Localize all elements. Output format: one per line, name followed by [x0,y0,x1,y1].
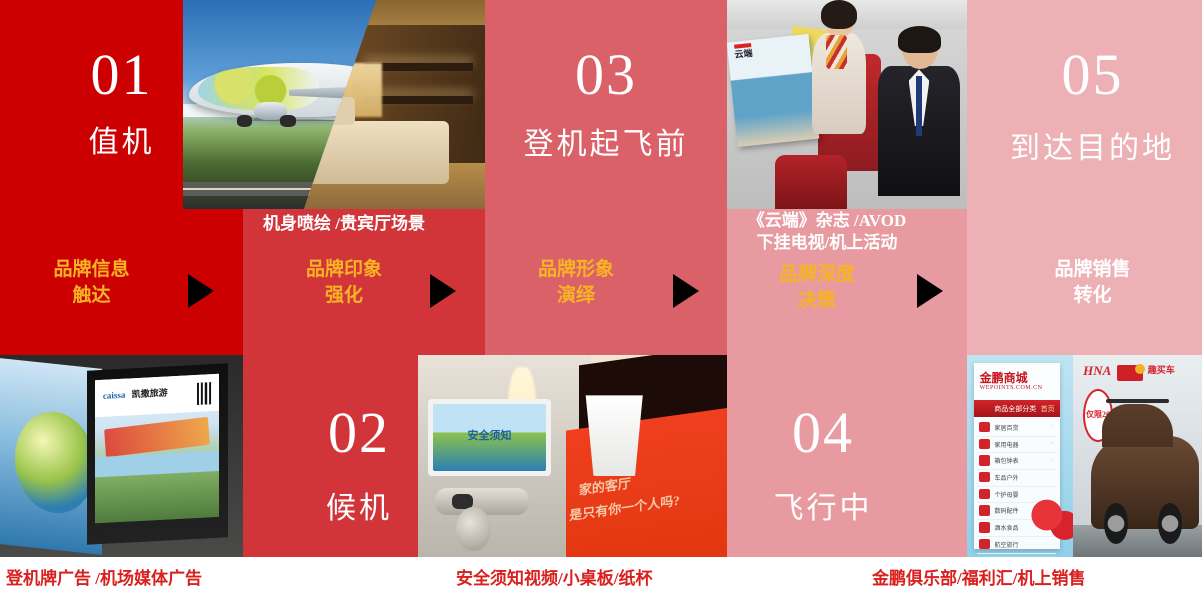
stage-column-5: 05 到达目的地 品牌销售 转化 [967,0,1202,593]
stage-number-04: 04 [703,404,943,462]
flow-arrow-3 [673,274,699,308]
stage-goal-03: 品牌形象 演绎 [455,257,697,308]
stage-column-1: 01 值机 品牌信息 触达 [0,0,243,593]
stage-goal-01: 品牌信息 触达 [0,257,213,308]
bottom-caption-04: 金鹏俱乐部/福利汇/机上销售 [872,564,1085,589]
stage-column-4: 《云端》杂志 /AVOD 下挂电视/机上活动 品牌深度 决策 04 飞行中 [727,0,967,593]
stage-goal-05: 品牌销售 转化 [975,257,1202,308]
stage-name-03: 登机起飞前 [485,130,727,160]
stage-number-03: 03 [485,46,727,104]
stage-inner-caption-04-line2: 下挂电视/机上活动 [707,232,947,254]
flow-arrow-2 [430,274,456,308]
stage-column-3: 03 登机起飞前 品牌形象 演绎 [485,0,727,593]
stage-number-02: 02 [238,404,480,462]
stage-number-01: 01 [0,46,243,104]
stage-name-01: 值机 [0,128,243,158]
stage-name-02: 候机 [238,494,480,524]
bottom-caption-01: 登机牌广告 /机场媒体广告 [6,564,202,589]
stage-name-04: 飞行中 [703,494,943,524]
flow-arrow-1 [188,274,214,308]
bottom-caption-03: 安全须知视频/小桌板/纸杯 [456,564,652,589]
journey-infographic: 云端 caissa 凯撒旅游 [0,0,1202,593]
stage-number-05: 05 [975,46,1202,104]
stage-name-05: 到达目的地 [975,134,1202,164]
stage-goal-02: 品牌印象 强化 [223,257,465,308]
stage-goal-04: 品牌深度 决策 [697,262,937,313]
stage-inner-caption-04-line1: 《云端》杂志 /AVOD [707,210,947,232]
flow-arrow-4 [917,274,943,308]
stage-column-2: 机身喷绘 /贵宾厅场景 品牌印象 强化 02 候机 [243,0,485,593]
